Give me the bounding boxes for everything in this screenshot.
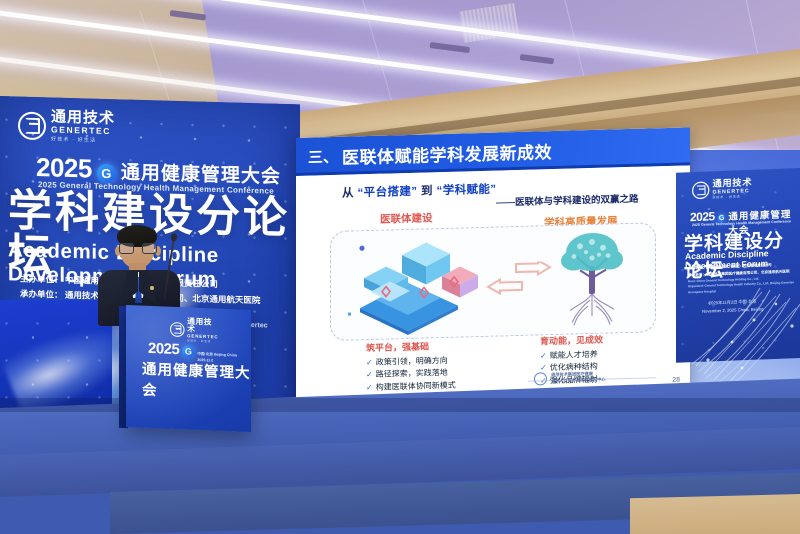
genertec-logo: 通用技术 GENERTEC 好技术 · 好生活 [692, 178, 752, 201]
bullet-text: 政策引领，明确方向 [376, 356, 448, 367]
bidirectional-arrow-icon [486, 261, 552, 303]
dna-light-graphic-icon [688, 268, 800, 388]
diagram-label-left: 医联体建设 [380, 210, 433, 226]
slide-footer-logo: 通用技术集团医疗健康 通用人才培养与学科建设中心 [534, 370, 605, 385]
g-symbol-icon: G [182, 345, 194, 357]
presentation-screen: 三、 医联体赋能学科发展新成效 从 “平台搭建” 到 “学科赋能” ——医联体与… [296, 127, 690, 400]
slide-subtitle: 从 “平台搭建” 到 “学科赋能” [342, 181, 496, 201]
slide-subtitle-tail: ——医联体与学科建设的双赢之路 [496, 191, 639, 209]
wood-floor-area [630, 494, 800, 534]
subtitle-prefix: 从 [342, 187, 354, 199]
slide-body: 从 “平台搭建” 到 “学科赋能” ——医联体与学科建设的双赢之路 医联体建设 … [296, 165, 690, 400]
podium: 通用技术 GENERTEC 好技术 · 好生活 2025 G 中国·北京 Bei… [126, 305, 251, 432]
genertec-logo: 通用技术 GENERTEC 好技术 · 好生活 [170, 317, 218, 344]
genertec-mark-icon [692, 181, 709, 199]
podium-year: 2025 [148, 340, 179, 358]
subtitle-mid: 到 [421, 185, 433, 197]
bullets-left: 筑平台，强基础 ✓政策引领，明确方向 ✓路径探索，实践落地 ✓构建医联体协同新模… [366, 340, 456, 395]
bullet-text: 赋能人才培养 [550, 350, 598, 360]
tree-with-roots-icon [546, 229, 638, 329]
g-symbol-icon: G [97, 164, 116, 184]
subtitle-quote-1: “平台搭建” [358, 186, 418, 200]
glasses-icon [119, 243, 155, 252]
logo-cn-text: 通用技术 [51, 109, 115, 126]
bullet-text: 构建医联体协同新模式 [376, 380, 456, 391]
genertec-logo: 通用技术 GENERTEC 好技术 · 好生活 [18, 109, 115, 145]
genertec-mark-icon [170, 322, 185, 337]
bullets-right-heading: 育动能，见成效 [540, 334, 603, 350]
conference-photo-scene: 通用技术 GENERTEC 好技术 · 好生活 2025 G 通用健康管理大会 … [0, 0, 800, 534]
slide-title-text: 医联体赋能学科发展新成效 [342, 138, 552, 169]
isometric-platform-icon [346, 231, 486, 337]
bullets-left-heading: 筑平台，强基础 [366, 340, 456, 356]
check-icon: ✓ [366, 358, 373, 367]
check-icon: ✓ [366, 383, 373, 392]
footer-mark-icon [534, 372, 547, 385]
bullet-text: 路径探索，实践落地 [376, 368, 448, 379]
subtitle-quote-2: “学科赋能” [437, 184, 497, 198]
speaker-lapel-pin [150, 286, 154, 290]
check-icon: ✓ [366, 370, 373, 379]
slide-section-number: 三、 [308, 145, 338, 167]
check-icon: ✓ [540, 351, 547, 360]
logo-cn-text: 通用技术 [187, 317, 218, 334]
genertec-mark-icon [18, 111, 46, 140]
podium-title: 通用健康管理大会 [142, 358, 251, 404]
